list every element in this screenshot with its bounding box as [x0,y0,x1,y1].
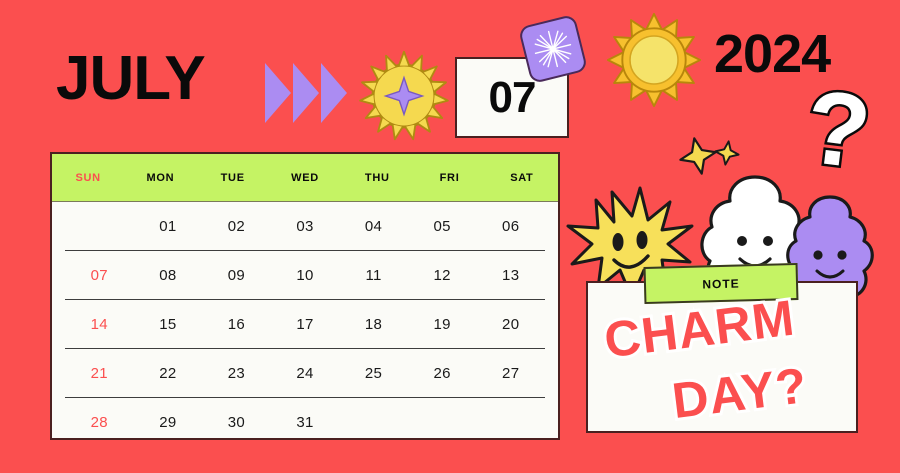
calendar-day-cell[interactable]: 09 [202,267,271,284]
calendar-week-row: 01 02 03 04 05 06 [65,202,545,251]
weekday-header-sat: SAT [486,172,558,184]
sparkle-burst-icon [518,14,588,84]
calendar-day-cell[interactable]: 08 [134,267,203,284]
calendar-day-cell[interactable]: 12 [408,267,477,284]
calendar-day-cell[interactable]: 11 [339,267,408,284]
calendar-day-cell[interactable]: 23 [202,365,271,382]
calendar-weekday-header-row: SUN MON TUE WED THU FRI SAT [52,154,558,202]
calendar-day-cell[interactable]: 14 [65,316,134,333]
calendar-day-cell[interactable]: 04 [339,218,408,235]
calendar-week-row: 21 22 23 24 25 26 27 [65,349,545,398]
calendar-day-cell[interactable]: 16 [202,316,271,333]
spiky-sun-icon [358,50,450,142]
question-mark-icon: ? [800,75,876,186]
calendar-day-cell[interactable]: 27 [476,365,545,382]
calendar-day-cell[interactable]: 24 [271,365,340,382]
calendar-day-cell[interactable]: 28 [65,414,134,431]
calendar-day-cell[interactable]: 15 [134,316,203,333]
calendar-day-cell[interactable]: 30 [202,414,271,431]
calendar-day-cell[interactable]: 10 [271,267,340,284]
calendar-day-cell[interactable]: 26 [408,365,477,382]
weekday-header-mon: MON [124,172,196,184]
weekday-header-thu: THU [341,172,413,184]
highlight-date-number: 07 [489,76,536,120]
weekday-header-wed: WED [269,172,341,184]
calendar-day-cell[interactable]: 21 [65,365,134,382]
calendar-day-cell[interactable]: 20 [476,316,545,333]
calendar-week-row: 28 29 30 31 [65,398,545,446]
chevron-arrows-group [262,63,350,123]
calendar-day-cell[interactable]: 29 [134,414,203,431]
star-icon [678,136,718,176]
calendar-day-cell[interactable]: 25 [339,365,408,382]
calendar-day-cell[interactable]: 05 [408,218,477,235]
calendar-day-cell[interactable]: 17 [271,316,340,333]
chevron-right-icon [265,63,291,123]
calendar-day-cell[interactable]: 03 [271,218,340,235]
calendar-day-cell[interactable]: 13 [476,267,545,284]
calendar-day-cell[interactable]: 18 [339,316,408,333]
calendar-day-cell[interactable]: 06 [476,218,545,235]
calendar-day-cell[interactable]: 22 [134,365,203,382]
weekday-header-fri: FRI [413,172,485,184]
calendar-day-cell[interactable]: 02 [202,218,271,235]
weekday-header-tue: TUE [197,172,269,184]
page-title: JULY [56,48,205,110]
calendar-day-cell[interactable]: 19 [408,316,477,333]
calendar-poster: JULY [0,0,900,473]
calendar-day-cell[interactable]: 01 [134,218,203,235]
chevron-right-icon [321,63,347,123]
star-icon [714,140,740,166]
calendar-weeks: 01 02 03 04 05 06 07 08 09 10 11 12 13 1… [52,202,558,446]
calendar-week-row: 07 08 09 10 11 12 13 [65,251,545,300]
calendar-week-row: 14 15 16 17 18 19 20 [65,300,545,349]
calendar-day-cell[interactable]: 31 [271,414,340,431]
chevron-right-icon [293,63,319,123]
weekday-header-sun: SUN [52,172,124,184]
calendar-grid: SUN MON TUE WED THU FRI SAT 01 02 03 04 … [50,152,560,440]
note-tab-label: NOTE [702,276,740,291]
calendar-day-cell[interactable]: 07 [65,267,134,284]
sun-icon [606,12,702,108]
